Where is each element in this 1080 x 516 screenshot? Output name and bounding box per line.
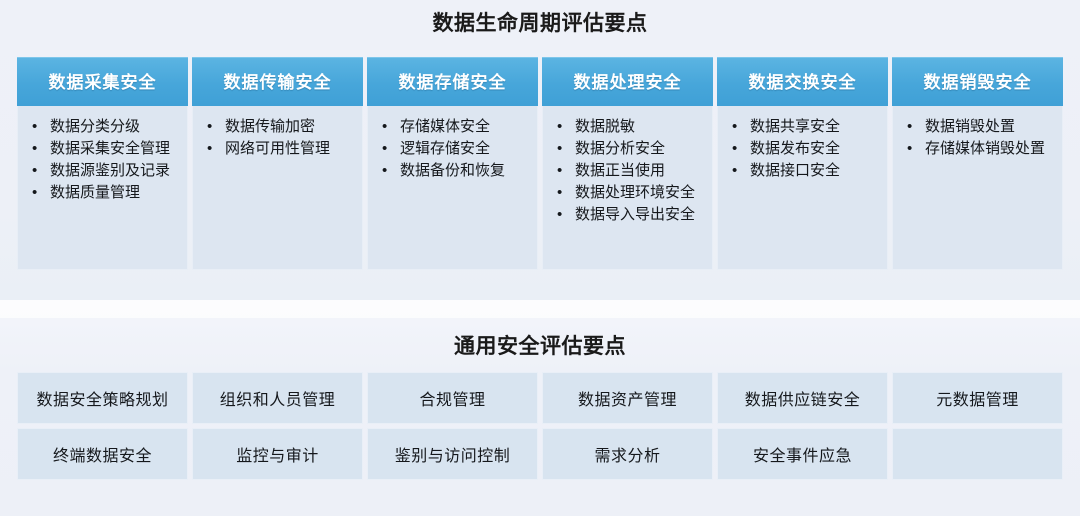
general-cell-asset-management[interactable]: 数据资产管理 (542, 372, 713, 424)
general-cell-supply-chain[interactable]: 数据供应链安全 (717, 372, 888, 424)
list-item: •数据处理环境安全 (551, 182, 706, 204)
lifecycle-header-transmission[interactable]: 数据传输安全 (192, 57, 363, 106)
list-item-label: 数据脱敏 (575, 118, 635, 135)
list-item: •数据共享安全 (726, 116, 881, 138)
bullet-icon: • (32, 160, 37, 182)
infographic-page: 数据生命周期评估要点 数据采集安全 •数据分类分级 •数据采集安全管理 •数据源… (0, 0, 1080, 516)
bullet-icon: • (382, 116, 387, 138)
list-item: •逻辑存储安全 (376, 138, 531, 160)
general-cell-requirement-analysis[interactable]: 需求分析 (542, 428, 713, 480)
list-item-label: 数据处理环境安全 (575, 184, 695, 201)
bullet-icon: • (907, 116, 912, 138)
list-item-label: 存储媒体安全 (400, 118, 490, 135)
bullet-icon: • (382, 138, 387, 160)
list-item-label: 数据发布安全 (750, 140, 840, 157)
general-section-title: 通用安全评估要点 (0, 318, 1080, 362)
lifecycle-section: 数据生命周期评估要点 数据采集安全 •数据分类分级 •数据采集安全管理 •数据源… (0, 0, 1080, 300)
lifecycle-body-collection: •数据分类分级 •数据采集安全管理 •数据源鉴别及记录 •数据质量管理 (17, 106, 188, 270)
lifecycle-column-processing: 数据处理安全 •数据脱敏 •数据分析安全 •数据正当使用 •数据处理环境安全 •… (542, 57, 713, 270)
lifecycle-column-storage: 数据存储安全 •存储媒体安全 •逻辑存储安全 •数据备份和恢复 (367, 57, 538, 270)
bullet-icon: • (907, 138, 912, 160)
general-cell-monitor-audit[interactable]: 监控与审计 (192, 428, 363, 480)
bullet-icon: • (732, 160, 737, 182)
list-item-label: 数据销毁处置 (925, 118, 1015, 135)
lifecycle-body-storage: •存储媒体安全 •逻辑存储安全 •数据备份和恢复 (367, 106, 538, 270)
list-item: •存储媒体销毁处置 (901, 138, 1056, 160)
general-cell-incident-response[interactable]: 安全事件应急 (717, 428, 888, 480)
lifecycle-body-transmission: •数据传输加密 •网络可用性管理 (192, 106, 363, 270)
list-item: •数据分类分级 (26, 116, 181, 138)
lifecycle-body-destruction: •数据销毁处置 •存储媒体销毁处置 (892, 106, 1063, 270)
lifecycle-header-collection[interactable]: 数据采集安全 (17, 57, 188, 106)
list-item: •数据销毁处置 (901, 116, 1056, 138)
list-item-label: 数据采集安全管理 (50, 140, 170, 157)
list-item-label: 数据传输加密 (225, 118, 315, 135)
bullet-icon: • (557, 160, 562, 182)
lifecycle-list-storage: •存储媒体安全 •逻辑存储安全 •数据备份和恢复 (376, 116, 531, 182)
general-cell-strategy-planning[interactable]: 数据安全策略规划 (17, 372, 188, 424)
lifecycle-section-title: 数据生命周期评估要点 (0, 0, 1080, 39)
bullet-icon: • (732, 138, 737, 160)
list-item: •数据备份和恢复 (376, 160, 531, 182)
bullet-icon: • (32, 116, 37, 138)
lifecycle-body-processing: •数据脱敏 •数据分析安全 •数据正当使用 •数据处理环境安全 •数据导入导出安… (542, 106, 713, 270)
general-cell-org-personnel[interactable]: 组织和人员管理 (192, 372, 363, 424)
list-item-label: 数据接口安全 (750, 162, 840, 179)
table-row: 终端数据安全 监控与审计 鉴别与访问控制 需求分析 安全事件应急 (17, 428, 1063, 480)
bullet-icon: • (732, 116, 737, 138)
lifecycle-column-exchange: 数据交换安全 •数据共享安全 •数据发布安全 •数据接口安全 (717, 57, 888, 270)
general-section: 通用安全评估要点 数据安全策略规划 组织和人员管理 合规管理 数据资产管理 数据… (0, 318, 1080, 516)
bullet-icon: • (382, 160, 387, 182)
lifecycle-list-destruction: •数据销毁处置 •存储媒体销毁处置 (901, 116, 1056, 160)
lifecycle-list-transmission: •数据传输加密 •网络可用性管理 (201, 116, 356, 160)
lifecycle-list-collection: •数据分类分级 •数据采集安全管理 •数据源鉴别及记录 •数据质量管理 (26, 116, 181, 204)
list-item-label: 数据正当使用 (575, 162, 665, 179)
bullet-icon: • (207, 138, 212, 160)
bullet-icon: • (557, 204, 562, 226)
list-item: •数据发布安全 (726, 138, 881, 160)
lifecycle-column-transmission: 数据传输安全 •数据传输加密 •网络可用性管理 (192, 57, 363, 270)
list-item: •网络可用性管理 (201, 138, 356, 160)
list-item: •存储媒体安全 (376, 116, 531, 138)
list-item: •数据导入导出安全 (551, 204, 706, 226)
bullet-icon: • (207, 116, 212, 138)
list-item-label: 数据质量管理 (50, 184, 140, 201)
bullet-icon: • (32, 182, 37, 204)
general-cell-compliance[interactable]: 合规管理 (367, 372, 538, 424)
list-item-label: 数据共享安全 (750, 118, 840, 135)
lifecycle-list-exchange: •数据共享安全 •数据发布安全 •数据接口安全 (726, 116, 881, 182)
general-cell-empty (892, 428, 1063, 480)
list-item-label: 网络可用性管理 (225, 140, 330, 157)
lifecycle-header-destruction[interactable]: 数据销毁安全 (892, 57, 1063, 106)
list-item-label: 数据备份和恢复 (400, 162, 505, 179)
lifecycle-header-processing[interactable]: 数据处理安全 (542, 57, 713, 106)
general-cell-metadata[interactable]: 元数据管理 (892, 372, 1063, 424)
lifecycle-column-destruction: 数据销毁安全 •数据销毁处置 •存储媒体销毁处置 (892, 57, 1063, 270)
bullet-icon: • (32, 138, 37, 160)
list-item-label: 数据分类分级 (50, 118, 140, 135)
lifecycle-list-processing: •数据脱敏 •数据分析安全 •数据正当使用 •数据处理环境安全 •数据导入导出安… (551, 116, 706, 226)
general-cell-endpoint-security[interactable]: 终端数据安全 (17, 428, 188, 480)
list-item: •数据源鉴别及记录 (26, 160, 181, 182)
list-item-label: 数据导入导出安全 (575, 206, 695, 223)
list-item: •数据质量管理 (26, 182, 181, 204)
lifecycle-header-storage[interactable]: 数据存储安全 (367, 57, 538, 106)
list-item-label: 数据源鉴别及记录 (50, 162, 170, 179)
list-item-label: 逻辑存储安全 (400, 140, 490, 157)
lifecycle-header-exchange[interactable]: 数据交换安全 (717, 57, 888, 106)
bullet-icon: • (557, 116, 562, 138)
lifecycle-table: 数据采集安全 •数据分类分级 •数据采集安全管理 •数据源鉴别及记录 •数据质量… (17, 57, 1063, 270)
bullet-icon: • (557, 138, 562, 160)
list-item-label: 数据分析安全 (575, 140, 665, 157)
list-item: •数据采集安全管理 (26, 138, 181, 160)
list-item: •数据接口安全 (726, 160, 881, 182)
lifecycle-body-exchange: •数据共享安全 •数据发布安全 •数据接口安全 (717, 106, 888, 270)
general-table: 数据安全策略规划 组织和人员管理 合规管理 数据资产管理 数据供应链安全 元数据… (17, 372, 1063, 480)
list-item: •数据传输加密 (201, 116, 356, 138)
list-item: •数据分析安全 (551, 138, 706, 160)
general-cell-access-control[interactable]: 鉴别与访问控制 (367, 428, 538, 480)
lifecycle-column-collection: 数据采集安全 •数据分类分级 •数据采集安全管理 •数据源鉴别及记录 •数据质量… (17, 57, 188, 270)
list-item-label: 存储媒体销毁处置 (925, 140, 1045, 157)
list-item: •数据脱敏 (551, 116, 706, 138)
bullet-icon: • (557, 182, 562, 204)
table-row: 数据安全策略规划 组织和人员管理 合规管理 数据资产管理 数据供应链安全 元数据… (17, 372, 1063, 424)
list-item: •数据正当使用 (551, 160, 706, 182)
